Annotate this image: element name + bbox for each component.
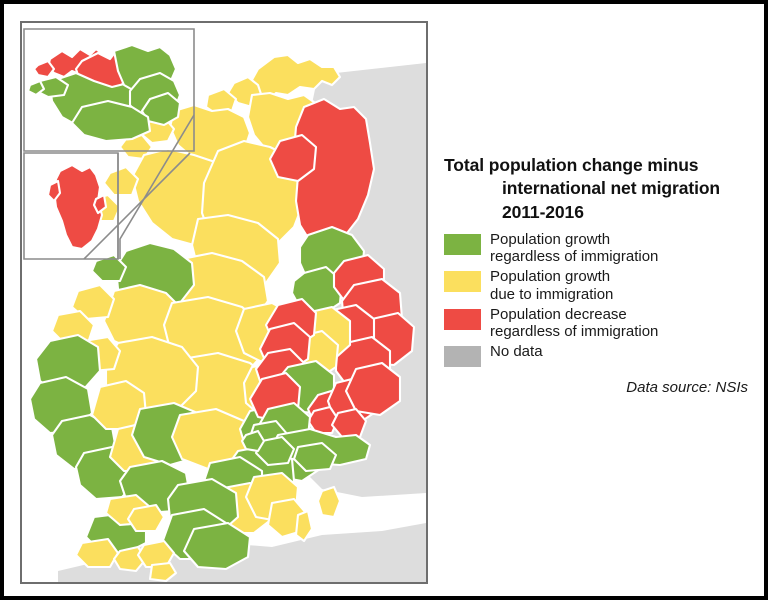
map-panel: .g{fill:#7cb342;} .y{fill:#fbdf5e;} .r{f… [20, 21, 428, 584]
legend-item-no-data: No data [444, 343, 754, 367]
legend-item-decrease-regardless: Population decrease regardless of immigr… [444, 306, 754, 341]
legend-item-growth-due-immigration: Population growth due to immigration [444, 268, 754, 303]
legend-item-growth-regardless: Population growth regardless of immigrat… [444, 231, 754, 266]
data-source-note: Data source: NSIs [444, 379, 754, 396]
legend-panel: Total population change minus internatio… [444, 154, 754, 434]
legend-label-gray: No data [490, 343, 543, 361]
legend-swatch-yellow [444, 271, 481, 292]
legend-label-green: Population growth regardless of immigrat… [490, 231, 658, 266]
legend-label-yellow: Population growth due to immigration [490, 268, 613, 303]
figure-container: .g{fill:#7cb342;} .y{fill:#fbdf5e;} .r{f… [0, 0, 768, 600]
legend-title: Total population change minus internatio… [444, 154, 754, 224]
choropleth-map: .g{fill:#7cb342;} .y{fill:#fbdf5e;} .r{f… [22, 23, 426, 582]
legend-swatch-green [444, 234, 481, 255]
legend-label-red: Population decrease regardless of immigr… [490, 306, 658, 341]
legend-swatch-red [444, 309, 481, 330]
legend-swatch-gray [444, 346, 481, 367]
